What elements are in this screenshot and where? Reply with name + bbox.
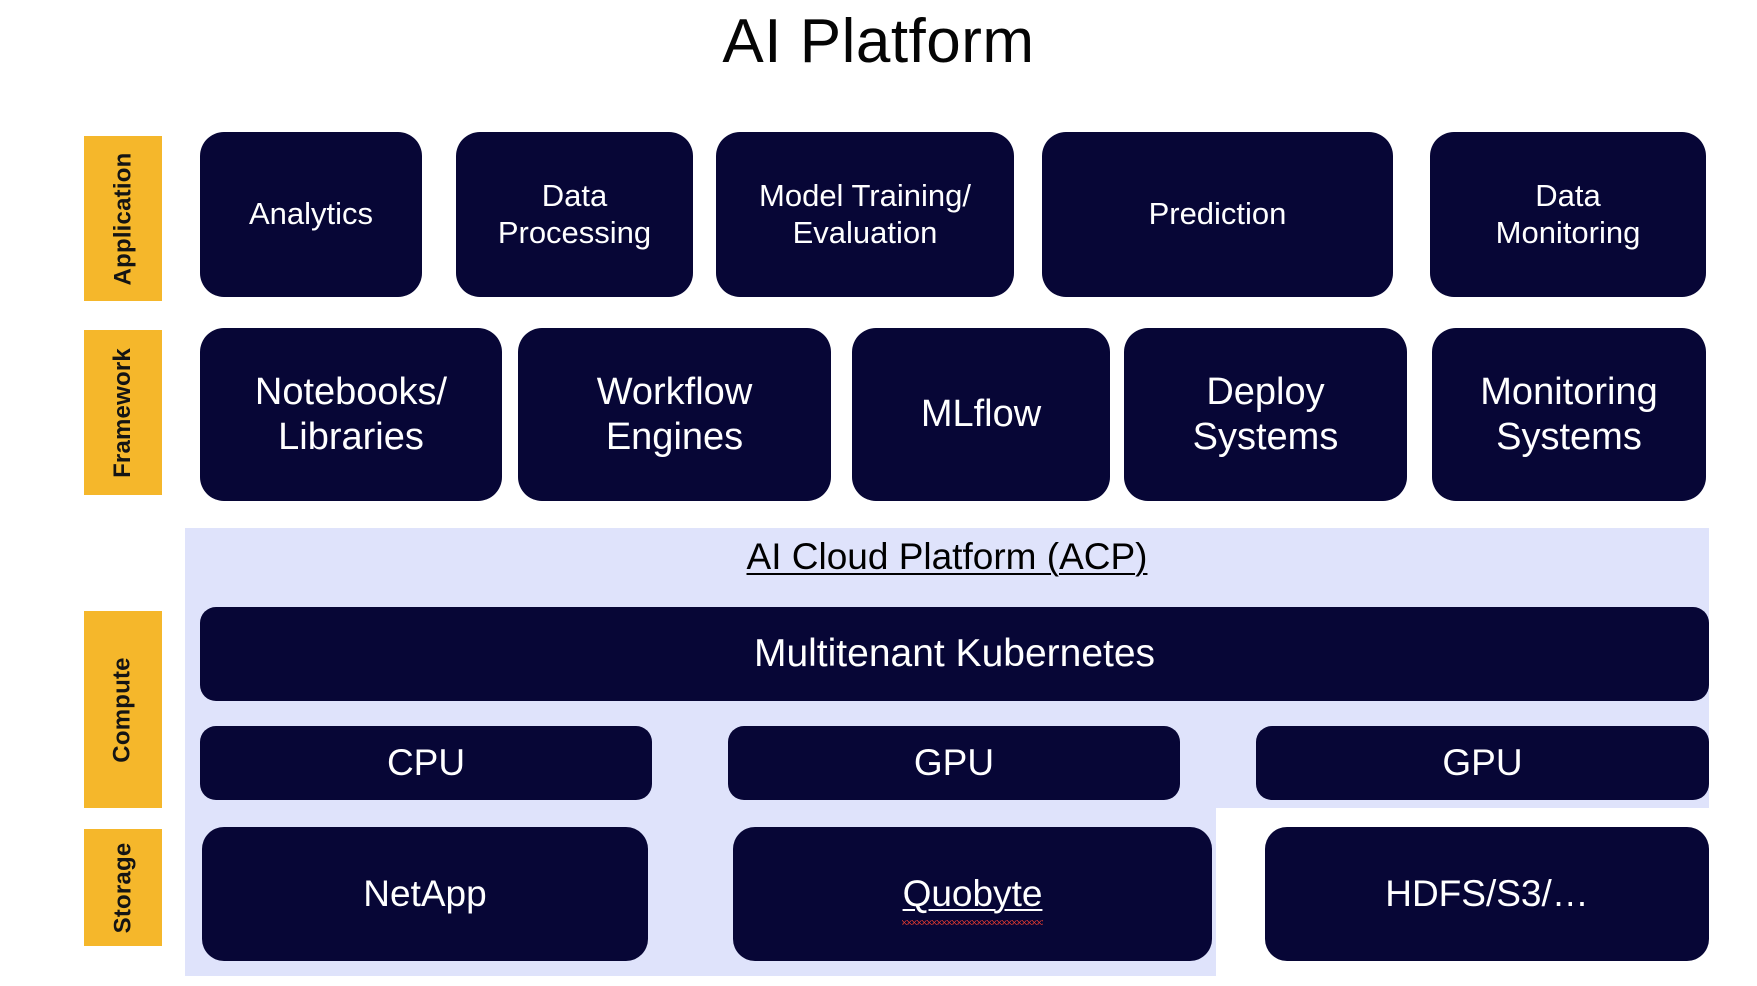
diagram-canvas: AI Platform AI Cloud Platform (ACP) Appl… [0, 0, 1757, 986]
app-box-model-training-evaluation[interactable]: Model Training/ Evaluation [716, 132, 1014, 297]
category-tab-compute-label: Compute [109, 657, 137, 762]
category-tab-application-label: Application [109, 152, 137, 285]
compute-box-gpu-2[interactable]: GPU [1256, 726, 1709, 800]
framework-box-notebooks-libraries[interactable]: Notebooks/ Libraries [200, 328, 502, 501]
storage-box-hdfs-s3[interactable]: HDFS/S3/… [1265, 827, 1709, 961]
category-tab-compute: Compute [84, 611, 162, 808]
category-tab-storage-label: Storage [109, 842, 137, 933]
compute-box-cpu[interactable]: CPU [200, 726, 652, 800]
framework-box-monitoring-systems[interactable]: Monitoring Systems [1432, 328, 1706, 501]
app-box-data-processing[interactable]: Data Processing [456, 132, 693, 297]
acp-panel-title: AI Cloud Platform (ACP) [185, 536, 1709, 578]
page-title: AI Platform [0, 8, 1757, 76]
framework-box-deploy-systems[interactable]: Deploy Systems [1124, 328, 1407, 501]
app-box-analytics[interactable]: Analytics [200, 132, 422, 297]
storage-box-netapp[interactable]: NetApp [202, 827, 648, 961]
storage-box-quobyte[interactable]: Quobyte [733, 827, 1212, 961]
category-tab-framework: Framework [84, 330, 162, 495]
category-tab-storage: Storage [84, 829, 162, 946]
framework-box-workflow-engines[interactable]: Workflow Engines [518, 328, 831, 501]
compute-box-multitenant-kubernetes[interactable]: Multitenant Kubernetes [200, 607, 1709, 701]
framework-box-mlflow[interactable]: MLflow [852, 328, 1110, 501]
app-box-data-monitoring[interactable]: Data Monitoring [1430, 132, 1706, 297]
category-tab-application: Application [84, 136, 162, 301]
category-tab-framework-label: Framework [109, 348, 137, 478]
compute-box-gpu-1[interactable]: GPU [728, 726, 1180, 800]
app-box-prediction[interactable]: Prediction [1042, 132, 1393, 297]
storage-box-quobyte-label-spellchecked: Quobyte [903, 872, 1043, 916]
